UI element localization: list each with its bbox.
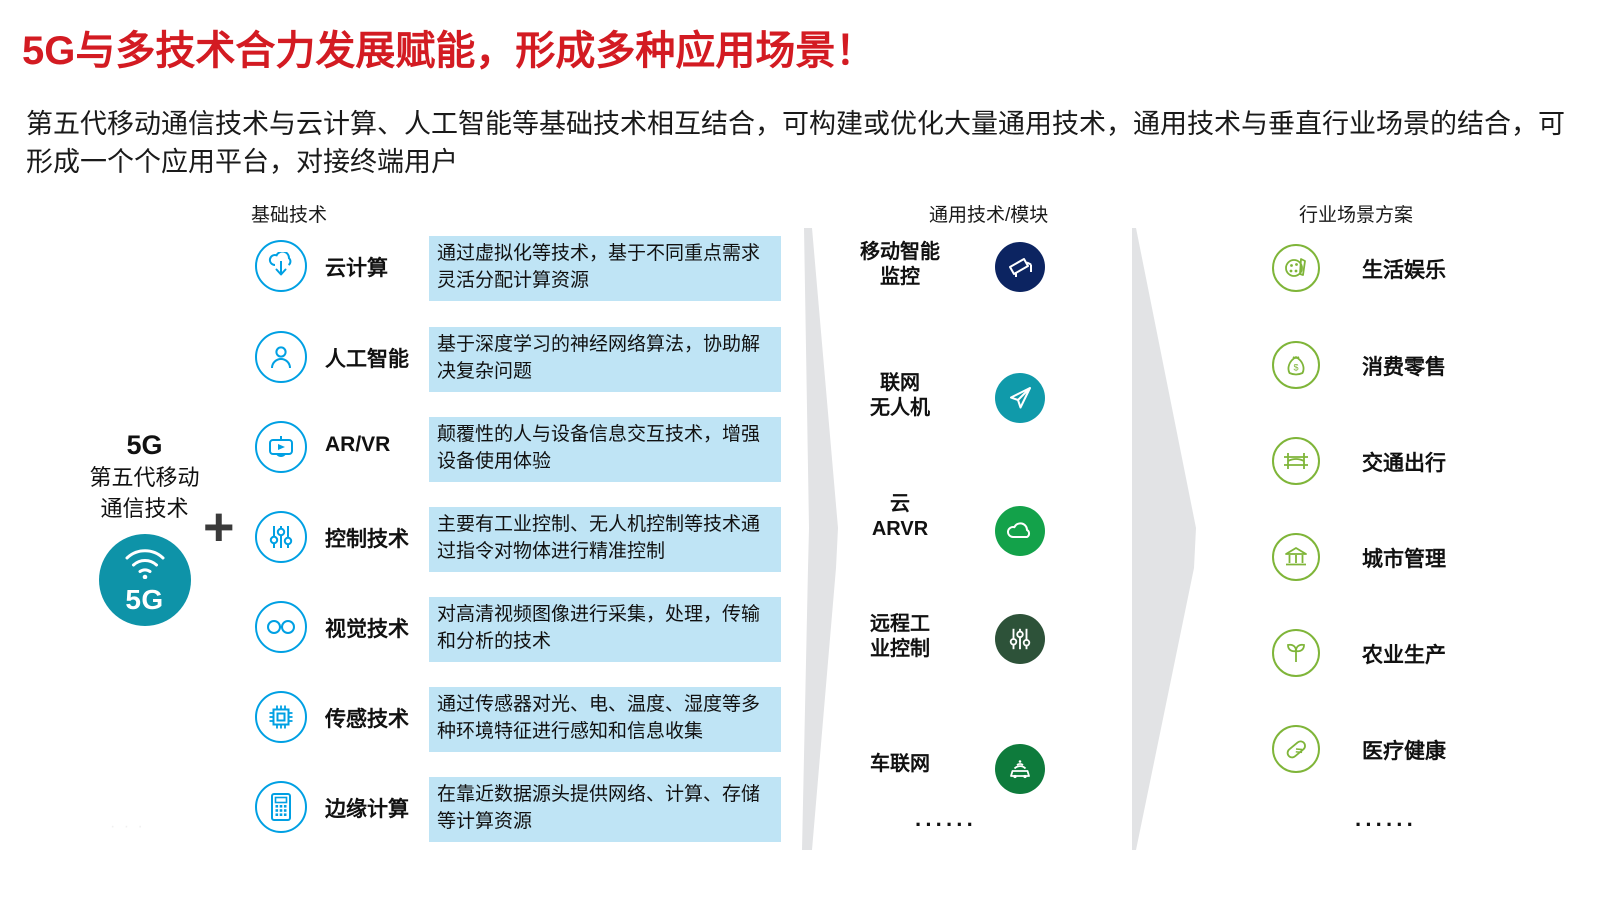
general-tech-row-1[interactable]: 联网 无人机 (840, 371, 1065, 441)
basic-tech-label: 视觉技术 (325, 613, 420, 643)
person-icon (255, 331, 307, 383)
money-bag-icon: $ (1272, 341, 1320, 389)
general-tech-label: 移动智能 监控 (840, 240, 960, 290)
basic-tech-desc: 通过传感器对光、电、温度、湿度等多种环境特征进行感知和信息收集 (429, 687, 781, 752)
chip-icon (255, 691, 307, 743)
svg-text:$: $ (1293, 363, 1298, 373)
industry-label: 生活娱乐 (1362, 254, 1446, 284)
industry-label: 交通出行 (1362, 447, 1446, 477)
core-5g-subtitle-line1: 第五代移动 (52, 464, 237, 492)
industry-label: 消费零售 (1362, 351, 1446, 381)
wifi-icon (124, 549, 166, 579)
general-tech-label-line1: 移动智能 (860, 241, 940, 263)
general-tech-label-line2: ARVR (872, 518, 928, 540)
cloud-icon (995, 506, 1045, 556)
vr-headset-icon (255, 421, 307, 473)
general-tech-label-line1: 联网 (880, 372, 920, 394)
industry-label: 农业生产 (1362, 639, 1446, 669)
column-header-industry: 行业场景方案 (1299, 200, 1413, 227)
basic-tech-desc: 通过虚拟化等技术，基于不同重点需求灵活分配计算资源 (429, 236, 781, 301)
general-tech-row-3[interactable]: 远程工 业控制 (840, 612, 1065, 682)
core-5g-badge: 5G (99, 534, 191, 626)
basic-tech-label: 控制技术 (325, 523, 420, 553)
sprout-icon (1272, 629, 1320, 677)
general-tech-label-line2: 无人机 (870, 397, 930, 419)
general-tech-label: 车联网 (840, 752, 960, 777)
basic-tech-desc: 对高清视频图像进行采集，处理，传输和分析的技术 (429, 597, 781, 662)
entertainment-icon (1272, 244, 1320, 292)
basic-tech-label: 云计算 (325, 252, 420, 282)
basic-tech-label: 传感技术 (325, 703, 420, 733)
general-tech-label: 远程工 业控制 (840, 612, 960, 662)
page-subtitle: 第五代移动通信技术与云计算、人工智能等基础技术相互结合，可构建或优化大量通用技术… (26, 105, 1571, 182)
cctv-camera-icon (995, 242, 1045, 292)
general-tech-label-line1: 远程工 (870, 613, 930, 635)
drone-paper-plane-icon (995, 373, 1045, 423)
column-header-general-tech: 通用技术/模块 (929, 200, 1048, 227)
basic-tech-desc: 基于深度学习的神经网络算法，协助解决复杂问题 (429, 327, 781, 392)
general-tech-label-line1: 车联网 (870, 753, 930, 775)
slide-root: 5G与多技术合力发展赋能，形成多种应用场景！ 第五代移动通信技术与云计算、人工智… (0, 0, 1601, 900)
general-tech-row-0[interactable]: 移动智能 监控 (840, 240, 1065, 310)
column-header-basic-tech: 基础技术 (251, 200, 327, 227)
basic-tech-label: 人工智能 (325, 343, 420, 373)
industry-label: 医疗健康 (1362, 735, 1446, 765)
general-tech-row-2[interactable]: 云 ARVR (840, 492, 1065, 562)
general-tech-label: 联网 无人机 (840, 371, 960, 421)
basic-tech-label: AR/VR (325, 433, 420, 457)
general-tech-label-line2: 监控 (880, 266, 920, 288)
general-tech-label-line2: 业控制 (870, 638, 930, 660)
calculator-icon (255, 781, 307, 833)
flow-arrow-2 (1128, 228, 1206, 850)
core-5g-title: 5G (52, 430, 237, 461)
basic-tech-desc: 在靠近数据源头提供网络、计算、存储等计算资源 (429, 777, 781, 842)
glasses-icon (255, 601, 307, 653)
general-tech-more-dots: ······ (915, 812, 977, 838)
basic-tech-label: 边缘计算 (325, 793, 420, 823)
bridge-icon (1272, 437, 1320, 485)
pill-icon (1272, 725, 1320, 773)
industry-label: 城市管理 (1362, 543, 1446, 573)
cloud-download-icon (255, 240, 307, 292)
basic-tech-desc: 颠覆性的人与设备信息交互技术，增强设备使用体验 (429, 417, 781, 482)
industry-more-dots: ······ (1355, 812, 1417, 838)
general-tech-row-4[interactable]: 车联网 (840, 742, 1065, 812)
basic-tech-desc: 主要有工业控制、无人机控制等技术通过指令对物体进行精准控制 (429, 507, 781, 572)
sliders-icon (255, 511, 307, 563)
page-title: 5G与多技术合力发展赋能，形成多种应用场景！ (22, 18, 875, 76)
general-tech-label: 云 ARVR (840, 492, 960, 542)
core-5g-badge-label: 5G (99, 584, 191, 616)
watermark: · · · (110, 818, 145, 836)
sliders-icon (995, 614, 1045, 664)
general-tech-label-line1: 云 (890, 493, 910, 515)
city-hall-icon (1272, 533, 1320, 581)
plus-sign: + (203, 500, 235, 554)
connected-car-icon (995, 744, 1045, 794)
